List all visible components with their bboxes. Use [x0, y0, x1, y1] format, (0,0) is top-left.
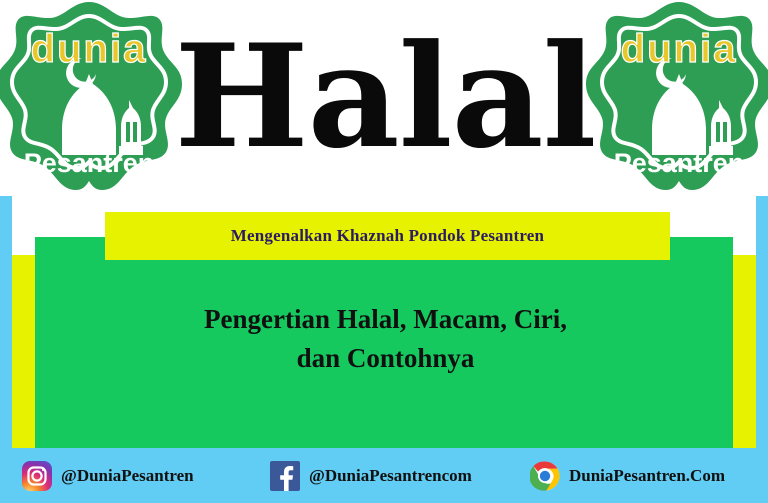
social-website[interactable]: DuniaPesantren.Com	[530, 448, 725, 503]
right-blue-rail	[756, 196, 768, 448]
svg-text:Pesantren: Pesantren	[24, 148, 155, 178]
subject-line-1: Pengertian Halal, Macam, Ciri,	[103, 300, 668, 339]
page-title: Halal	[185, 14, 585, 179]
left-yellow-bar	[12, 255, 35, 448]
social-instagram[interactable]: @DuniaPesantren	[22, 448, 194, 503]
logo-brand-bottom-text: Pesantren	[24, 148, 155, 178]
logo-brand-top-text: dunia	[621, 27, 738, 71]
logo-dunia-pesantren-right: dunia Pesantren	[586, 0, 768, 196]
subject-line-2: dan Contohnya	[103, 339, 668, 378]
tagline-banner: Mengenalkan Khaznah Pondok Pesantren	[105, 212, 670, 260]
instagram-icon	[22, 461, 52, 491]
facebook-icon	[270, 461, 300, 491]
tagline-text: Mengenalkan Khaznah Pondok Pesantren	[231, 226, 544, 246]
left-blue-rail	[0, 196, 12, 448]
svg-text:Pesantren: Pesantren	[614, 148, 745, 178]
poster-canvas: Halal dunia Pe	[0, 0, 768, 503]
social-facebook[interactable]: @DuniaPesantrencom	[270, 448, 472, 503]
logo-brand-bottom-text: Pesantren	[614, 148, 745, 178]
logo-dunia-pesantren-left: dunia Pesantren	[0, 0, 182, 196]
svg-text:dunia: dunia	[31, 27, 148, 71]
social-footer-bar: @DuniaPesantren @DuniaPesantrencom	[0, 448, 768, 503]
svg-text:dunia: dunia	[621, 27, 738, 71]
facebook-handle: @DuniaPesantrencom	[309, 466, 472, 486]
right-yellow-bar	[733, 255, 756, 448]
instagram-handle: @DuniaPesantren	[61, 466, 194, 486]
logo-brand-top-text: dunia	[31, 27, 148, 71]
chrome-icon	[530, 461, 560, 491]
subject-heading: Pengertian Halal, Macam, Ciri, dan Conto…	[103, 300, 668, 378]
website-url: DuniaPesantren.Com	[569, 466, 725, 486]
